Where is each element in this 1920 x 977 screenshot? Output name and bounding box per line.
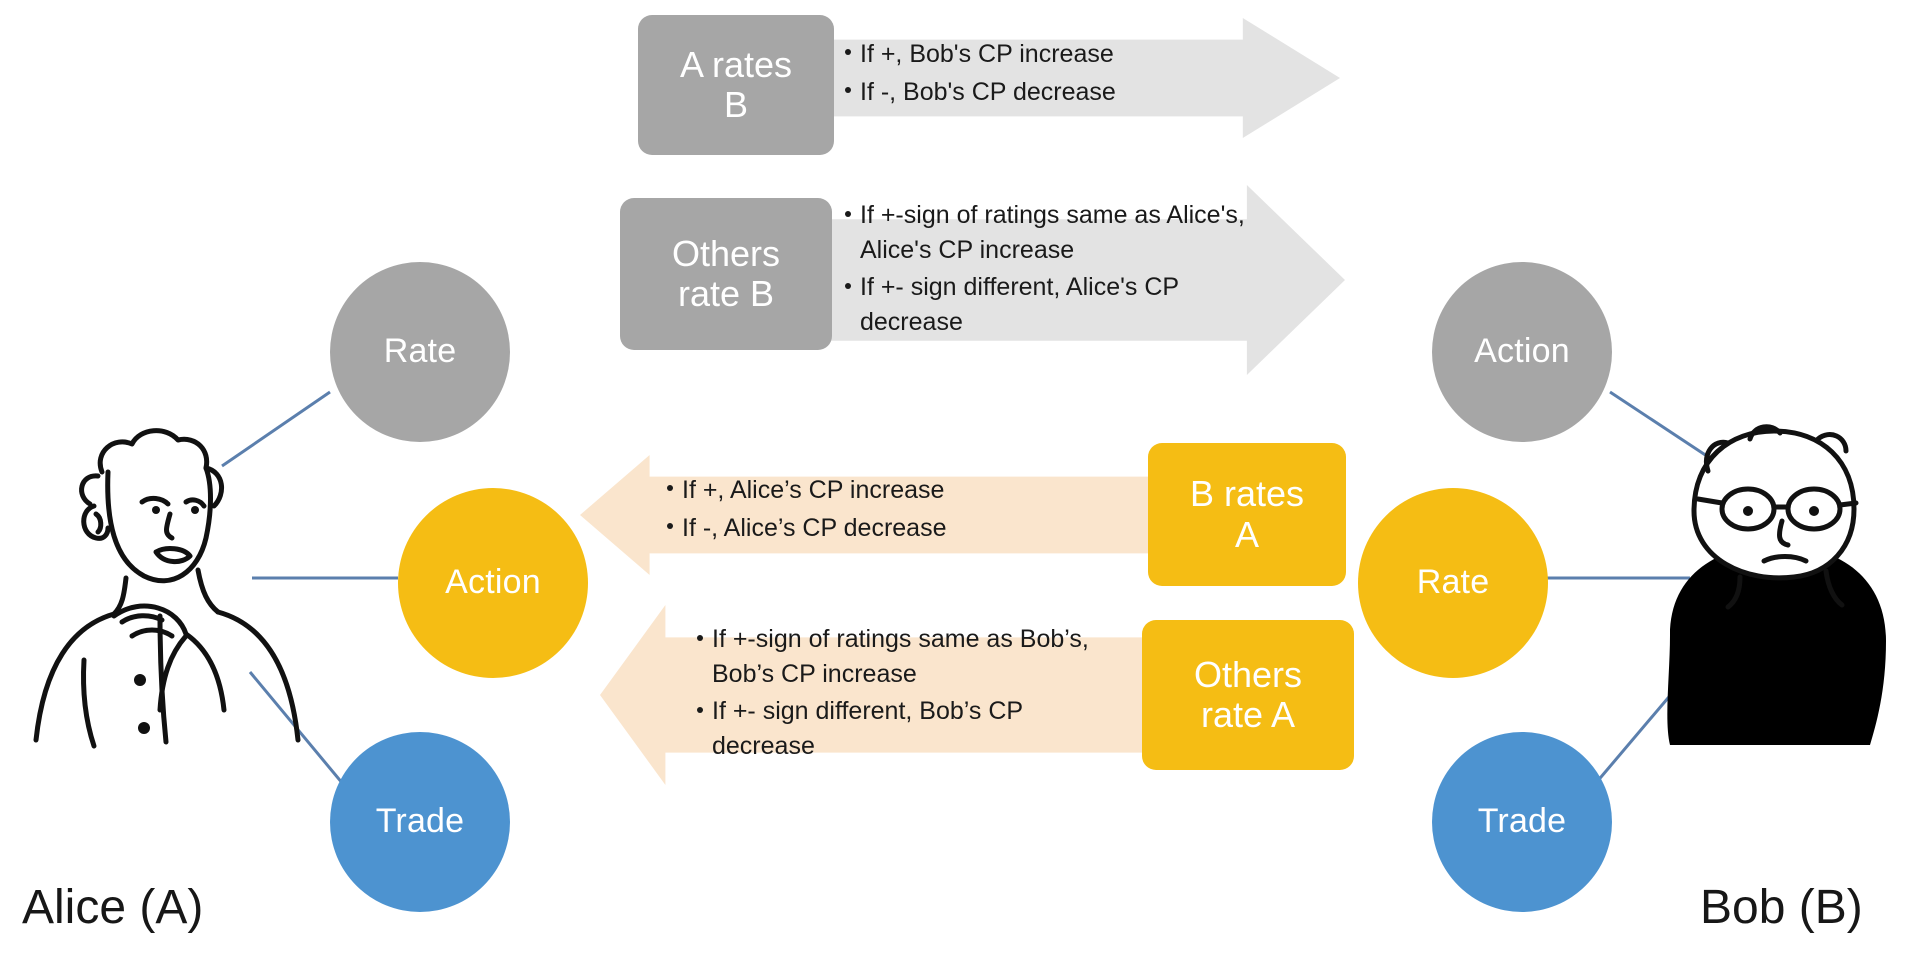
flow-bullet: If +-sign of ratings same as Bob’s, Bob’… <box>712 622 1120 692</box>
alice-role-action[interactable]: Action <box>398 488 588 678</box>
alice-name: Alice (A) <box>22 880 203 935</box>
bob-role-rate[interactable]: Rate <box>1358 488 1548 678</box>
bob-role-rate-label: Rate <box>1417 565 1490 601</box>
diagram-canvas: Rate Action Trade Action Rate Trade If +… <box>0 0 1920 977</box>
flow-others-rate-a-tag[interactable]: Others rate A <box>1142 620 1354 770</box>
alice-role-trade[interactable]: Trade <box>330 732 510 912</box>
flow-a-rates-b-tag-label: A rates B <box>680 45 792 126</box>
flow-bullet: If -, Bob's CP decrease <box>860 74 1308 110</box>
alice-role-trade-label: Trade <box>376 804 465 840</box>
alice-role-action-label: Action <box>445 565 541 601</box>
flow-bullet: If +, Bob's CP increase <box>860 36 1308 72</box>
bob-role-action[interactable]: Action <box>1432 262 1612 442</box>
flow-b-rates-a-tag[interactable]: B rates A <box>1148 443 1346 586</box>
bob-illustration <box>1630 405 1920 745</box>
bob-name: Bob (B) <box>1700 880 1863 935</box>
flow-others-rate-a-tag-label: Others rate A <box>1194 655 1302 736</box>
bob-role-action-label: Action <box>1474 334 1570 370</box>
flow-b-rates-a-tag-label: B rates A <box>1190 474 1304 555</box>
bob-role-trade[interactable]: Trade <box>1432 732 1612 912</box>
alice-role-rate-label: Rate <box>384 334 457 370</box>
flow-bullet: If +- sign different, Bob’s CP decrease <box>712 694 1120 764</box>
alice-role-rate[interactable]: Rate <box>330 262 510 442</box>
flow-others-rate-b-tag[interactable]: Others rate B <box>620 198 832 350</box>
bob-role-trade-label: Trade <box>1478 804 1567 840</box>
flow-a-rates-b-text: If +, Bob's CP increase If -, Bob's CP d… <box>838 36 1308 113</box>
flow-bullet: If +- sign different, Alice's CP decreas… <box>860 270 1258 340</box>
flow-others-rate-a-text: If +-sign of ratings same as Bob’s, Bob’… <box>690 622 1120 766</box>
flow-others-rate-b-tag-label: Others rate B <box>672 234 780 315</box>
alice-illustration <box>10 410 330 750</box>
flow-bullet: If +, Alice’s CP increase <box>682 472 1130 508</box>
flow-b-rates-a-text: If +, Alice’s CP increase If -, Alice’s … <box>660 472 1130 549</box>
flow-bullet: If -, Alice’s CP decrease <box>682 510 1130 546</box>
flow-a-rates-b-tag[interactable]: A rates B <box>638 15 834 155</box>
flow-others-rate-b-text: If +-sign of ratings same as Alice's, Al… <box>838 198 1258 342</box>
flow-bullet: If +-sign of ratings same as Alice's, Al… <box>860 198 1258 268</box>
